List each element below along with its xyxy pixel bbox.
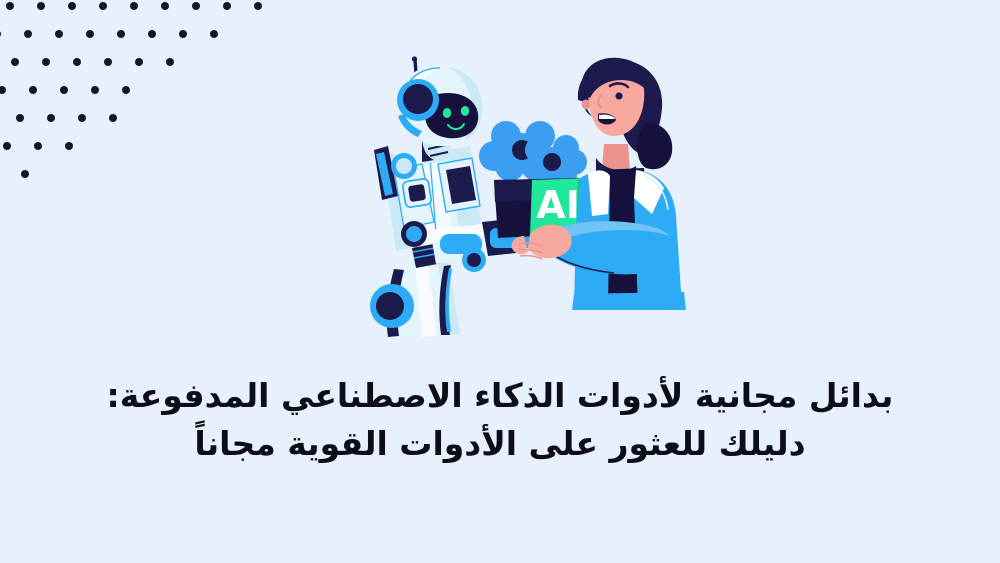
ai-card-text: AI xyxy=(536,183,580,227)
pattern-dot xyxy=(68,2,76,10)
robot-head xyxy=(397,66,482,147)
pattern-dot xyxy=(0,30,1,38)
pattern-dot xyxy=(99,2,107,10)
pattern-dot xyxy=(223,2,231,10)
pattern-dot xyxy=(179,30,187,38)
pattern-dot xyxy=(210,30,218,38)
hero-illustration: AI xyxy=(352,38,692,350)
pattern-dot xyxy=(11,58,19,66)
pattern-dot xyxy=(3,142,11,150)
pattern-dot xyxy=(34,142,42,150)
headline-line-2: دليلك للعثور على الأدوات القوية مجاناً xyxy=(60,420,940,468)
pattern-dot xyxy=(29,86,37,94)
pattern-dot xyxy=(148,30,156,38)
pattern-dot xyxy=(192,2,200,10)
pattern-dot xyxy=(16,114,24,122)
pattern-dot xyxy=(161,2,169,10)
pattern-dot xyxy=(254,2,262,10)
pattern-dot xyxy=(122,86,130,94)
pattern-dot xyxy=(42,58,50,66)
pattern-dot xyxy=(6,2,14,10)
pattern-dot xyxy=(47,114,55,122)
pattern-dot xyxy=(65,142,73,150)
pattern-dot xyxy=(117,30,125,38)
pattern-dot xyxy=(55,30,63,38)
pattern-dot xyxy=(21,170,29,178)
banner-canvas: AI xyxy=(0,0,1000,563)
pattern-dot xyxy=(86,30,94,38)
pattern-dot xyxy=(91,86,99,94)
robot-lower-body xyxy=(370,260,460,337)
pattern-dot xyxy=(104,58,112,66)
pattern-dot xyxy=(24,30,32,38)
pattern-dot xyxy=(135,58,143,66)
pattern-dot xyxy=(109,114,117,122)
pattern-dot xyxy=(166,58,174,66)
page-title: بدائل مجانية لأدوات الذكاء الاصطناعي الم… xyxy=(0,372,1000,468)
pattern-dot xyxy=(0,86,6,94)
pattern-dot xyxy=(78,114,86,122)
pattern-dot xyxy=(73,58,81,66)
pattern-dot xyxy=(60,86,68,94)
pattern-dot xyxy=(130,2,138,10)
pattern-dot xyxy=(37,2,45,10)
headline-line-1: بدائل مجانية لأدوات الذكاء الاصطناعي الم… xyxy=(60,372,940,420)
dot-pattern xyxy=(0,0,270,265)
